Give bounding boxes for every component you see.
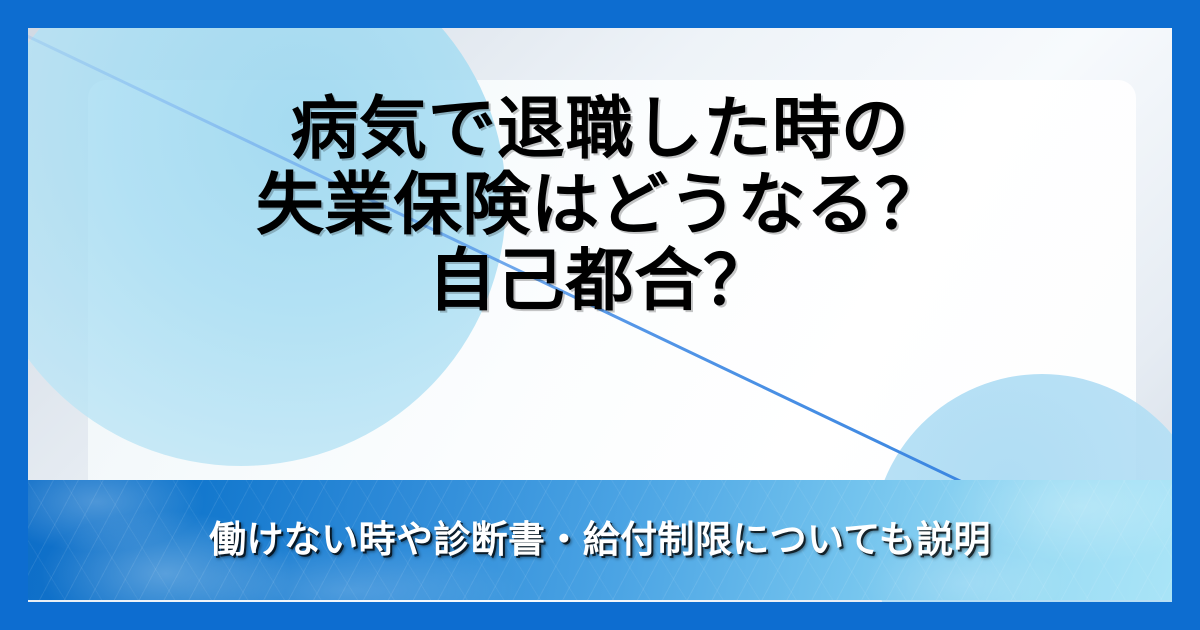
eyecatch-canvas: 病気で退職した時の 失業保険はどうなる？ 自己都合？ 働けない時や診断書・給付制…	[0, 0, 1200, 630]
title-line-2: 失業保険はどうなる？	[0, 168, 1200, 244]
subtitle-text: 働けない時や診断書・給付制限についても説明	[28, 518, 1172, 562]
subtitle-banner: 働けない時や診断書・給付制限についても説明	[28, 480, 1172, 600]
title-line-3: 自己都合？	[0, 244, 1200, 320]
title-block: 病気で退職した時の 失業保険はどうなる？ 自己都合？	[0, 92, 1200, 320]
title-line-1: 病気で退職した時の	[0, 92, 1200, 168]
